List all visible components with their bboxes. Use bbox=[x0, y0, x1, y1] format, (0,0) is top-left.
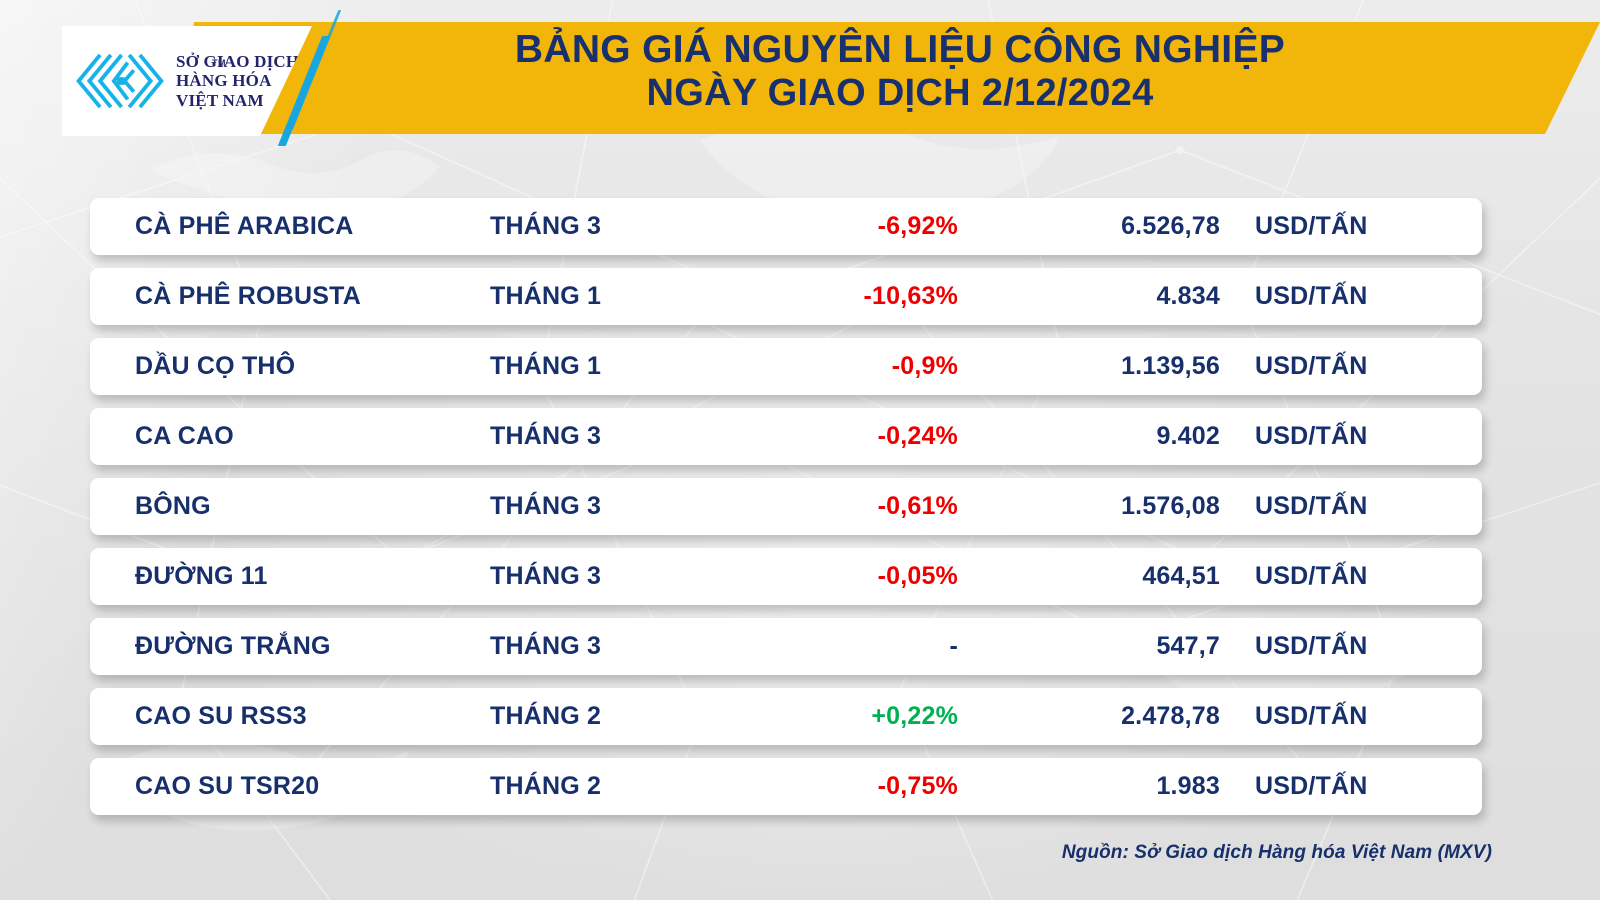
table-row: CÀ PHÊ ARABICATHÁNG 3-6,92%6.526,78USD/T… bbox=[90, 198, 1482, 255]
price-unit-cell: USD/TẤN bbox=[1255, 492, 1475, 521]
contract-month-cell: THÁNG 3 bbox=[490, 632, 690, 661]
price-unit-cell: USD/TẤN bbox=[1255, 352, 1475, 381]
source-note: Nguồn: Sở Giao dịch Hàng hóa Việt Nam (M… bbox=[1062, 842, 1492, 864]
price-change-cell: -0,9% bbox=[690, 352, 970, 381]
commodity-name-cell: ĐƯỜNG TRẮNG bbox=[90, 632, 490, 661]
commodity-name-cell: DẦU CỌ THÔ bbox=[90, 352, 490, 381]
table-row: BÔNGTHÁNG 3-0,61%1.576,08USD/TẤN bbox=[90, 478, 1482, 535]
price-change-cell: -0,05% bbox=[690, 562, 970, 591]
contract-month-cell: THÁNG 2 bbox=[490, 702, 690, 731]
price-change-cell: -0,75% bbox=[690, 772, 970, 801]
commodity-name-cell: CÀ PHÊ ARABICA bbox=[90, 212, 490, 241]
title-line-2: NGÀY GIAO DỊCH 2/12/2024 bbox=[330, 72, 1470, 115]
table-row: ĐƯỜNG TRẮNGTHÁNG 3-547,7USD/TẤN bbox=[90, 618, 1482, 675]
price-unit-cell: USD/TẤN bbox=[1255, 422, 1475, 451]
price-change-cell: -0,61% bbox=[690, 492, 970, 521]
price-unit-cell: USD/TẤN bbox=[1255, 772, 1475, 801]
price-board-page: TM SỞ GIAO DỊCH HÀNG HÓA VIỆT NAM BẢNG G… bbox=[0, 0, 1600, 900]
table-row: CAO SU TSR20THÁNG 2-0,75%1.983USD/TẤN bbox=[90, 758, 1482, 815]
commodity-name-cell: CAO SU RSS3 bbox=[90, 702, 490, 731]
price-change-cell: -0,24% bbox=[690, 422, 970, 451]
commodity-price-table: CÀ PHÊ ARABICATHÁNG 3-6,92%6.526,78USD/T… bbox=[90, 198, 1482, 828]
contract-month-cell: THÁNG 1 bbox=[490, 282, 690, 311]
price-value-cell: 4.834 bbox=[970, 282, 1255, 311]
price-change-cell: -6,92% bbox=[690, 212, 970, 241]
commodity-name-cell: CA CAO bbox=[90, 422, 490, 451]
contract-month-cell: THÁNG 3 bbox=[490, 212, 690, 241]
price-unit-cell: USD/TẤN bbox=[1255, 632, 1475, 661]
logo-line-2: HÀNG HÓA bbox=[176, 71, 299, 90]
price-value-cell: 1.983 bbox=[970, 772, 1255, 801]
mxv-logo-icon bbox=[74, 50, 166, 112]
trademark-mark: TM bbox=[212, 58, 226, 68]
commodity-name-cell: BÔNG bbox=[90, 492, 490, 521]
price-change-cell: +0,22% bbox=[690, 702, 970, 731]
price-value-cell: 547,7 bbox=[970, 632, 1255, 661]
table-row: CAO SU RSS3THÁNG 2+0,22%2.478,78USD/TẤN bbox=[90, 688, 1482, 745]
price-unit-cell: USD/TẤN bbox=[1255, 702, 1475, 731]
commodity-name-cell: ĐƯỜNG 11 bbox=[90, 562, 490, 591]
header: TM SỞ GIAO DỊCH HÀNG HÓA VIỆT NAM BẢNG G… bbox=[0, 0, 1600, 150]
table-row: CA CAOTHÁNG 3-0,24%9.402USD/TẤN bbox=[90, 408, 1482, 465]
price-value-cell: 1.576,08 bbox=[970, 492, 1255, 521]
commodity-name-cell: CAO SU TSR20 bbox=[90, 772, 490, 801]
price-change-cell: -10,63% bbox=[690, 282, 970, 311]
price-unit-cell: USD/TẤN bbox=[1255, 212, 1475, 241]
contract-month-cell: THÁNG 1 bbox=[490, 352, 690, 381]
contract-month-cell: THÁNG 2 bbox=[490, 772, 690, 801]
price-value-cell: 6.526,78 bbox=[970, 212, 1255, 241]
contract-month-cell: THÁNG 3 bbox=[490, 492, 690, 521]
table-row: CÀ PHÊ ROBUSTATHÁNG 1-10,63%4.834USD/TẤN bbox=[90, 268, 1482, 325]
contract-month-cell: THÁNG 3 bbox=[490, 422, 690, 451]
price-value-cell: 1.139,56 bbox=[970, 352, 1255, 381]
page-title: BẢNG GIÁ NGUYÊN LIỆU CÔNG NGHIỆP NGÀY GI… bbox=[330, 28, 1470, 114]
title-line-1: BẢNG GIÁ NGUYÊN LIỆU CÔNG NGHIỆP bbox=[330, 28, 1470, 72]
contract-month-cell: THÁNG 3 bbox=[490, 562, 690, 591]
logo-line-1: SỞ GIAO DỊCH bbox=[176, 52, 299, 71]
price-unit-cell: USD/TẤN bbox=[1255, 282, 1475, 311]
commodity-name-cell: CÀ PHÊ ROBUSTA bbox=[90, 282, 490, 311]
price-value-cell: 2.478,78 bbox=[970, 702, 1255, 731]
price-value-cell: 9.402 bbox=[970, 422, 1255, 451]
table-row: DẦU CỌ THÔTHÁNG 1-0,9%1.139,56USD/TẤN bbox=[90, 338, 1482, 395]
table-row: ĐƯỜNG 11THÁNG 3-0,05%464,51USD/TẤN bbox=[90, 548, 1482, 605]
price-change-cell: - bbox=[690, 632, 970, 661]
price-value-cell: 464,51 bbox=[970, 562, 1255, 591]
price-unit-cell: USD/TẤN bbox=[1255, 562, 1475, 591]
